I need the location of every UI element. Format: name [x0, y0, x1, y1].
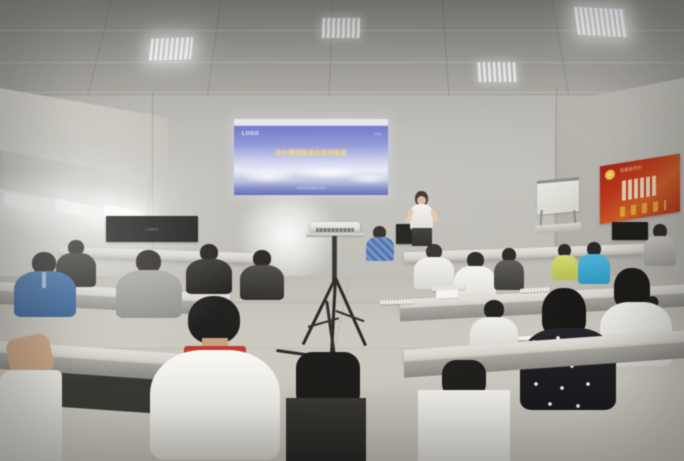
- poster-figures: [620, 200, 666, 217]
- handout-paper-2[interactable]: [436, 289, 458, 298]
- classroom-photo: LOGO 2016 会计管理信息化应用培训 www.example.com 党建…: [0, 0, 684, 461]
- attendee-front-left-arm: [0, 336, 70, 461]
- presenter-torso: [410, 204, 433, 230]
- slide-footer: www.example.com: [234, 186, 388, 190]
- slide-title: 会计管理信息化应用培训: [234, 148, 388, 157]
- ceiling-light-panel-2: [322, 18, 361, 38]
- attendee-yellow: [552, 244, 578, 278]
- presenter: [406, 191, 438, 253]
- attendee-front-right-edge: [286, 352, 366, 461]
- slide-logo: LOGO: [242, 131, 259, 137]
- poster-title: 党建宣传栏: [620, 165, 642, 174]
- attendee-plaid: [366, 226, 394, 260]
- attendee-dark-mid-3: [240, 250, 284, 298]
- attendee-blue-shirt: [14, 252, 76, 314]
- monitor-left: LOGO: [106, 216, 198, 242]
- projector-vent: [316, 228, 354, 232]
- tripod-stand: [300, 222, 370, 362]
- ceiling-light-panel-1: [149, 37, 193, 60]
- slide-background-image: [234, 163, 388, 185]
- monitor-logo: LOGO: [145, 227, 158, 232]
- projection-screen: LOGO 2016 会计管理信息化应用培训 www.example.com: [234, 119, 388, 195]
- poster-panel: [622, 175, 656, 200]
- poster-emblem-icon: [605, 169, 615, 181]
- attendee-dark-center: [494, 248, 524, 288]
- ceiling-light-panel-3: [574, 7, 628, 38]
- attendee-front-right-white: [418, 360, 510, 461]
- ceiling-light-panel-4: [477, 62, 516, 82]
- attendee-front-white: [150, 296, 280, 461]
- monitor-right: [612, 222, 648, 240]
- slide-corner-text: 2016: [374, 132, 381, 136]
- attendee-dark-mid-2: [186, 244, 232, 292]
- attendee-back-right: [644, 224, 676, 264]
- presenter-skirt: [412, 228, 432, 246]
- tripod-column: [332, 236, 337, 282]
- flip-chart-easel: [535, 180, 581, 228]
